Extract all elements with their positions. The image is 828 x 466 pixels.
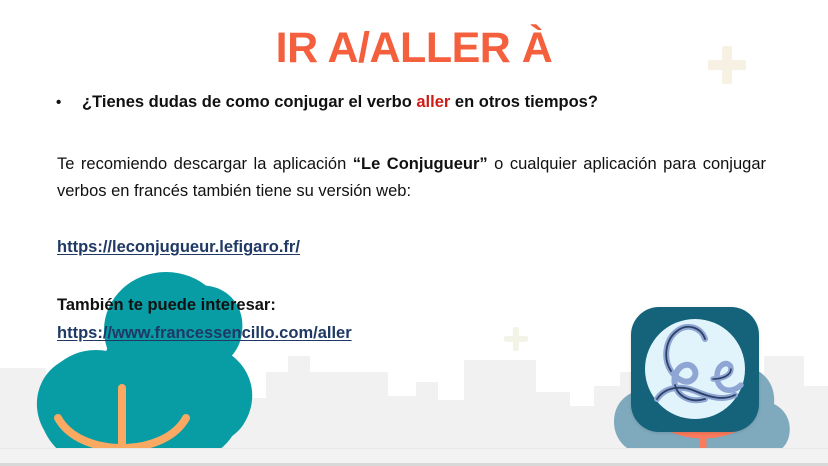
bullet-marker: • bbox=[56, 95, 82, 110]
bullet-question-text: ¿Tienes dudas de como conjugar el verbo … bbox=[82, 93, 776, 112]
app-icon-script-letters bbox=[631, 307, 759, 432]
plus-icon-middle bbox=[504, 327, 528, 351]
recommendation-paragraph: Te recomiendo descargar la aplicación “L… bbox=[57, 151, 766, 204]
paragraph-part-1: Te recomiendo descargar la aplicación bbox=[57, 155, 353, 173]
link-francessencillo[interactable]: https://www.francessencillo.com/aller bbox=[57, 324, 352, 343]
link-leconjugueur[interactable]: https://leconjugueur.lefigaro.fr/ bbox=[57, 238, 300, 257]
slide-canvas: IR A/ALLER À • ¿Tienes dudas de como con… bbox=[0, 0, 828, 466]
bullet-highlight-verb: aller bbox=[416, 93, 450, 111]
app-name-quoted: “Le Conjugueur” bbox=[353, 155, 488, 173]
bullet-text-before: ¿Tienes dudas de como conjugar el verbo bbox=[82, 93, 416, 111]
app-icon-le-conjugueur[interactable] bbox=[631, 307, 759, 432]
page-title: IR A/ALLER À bbox=[0, 26, 828, 71]
ground-strip bbox=[0, 448, 828, 466]
bullet-text-after: en otros tiempos? bbox=[450, 93, 598, 111]
bullet-question-row: • ¿Tienes dudas de como conjugar el verb… bbox=[56, 93, 776, 112]
also-interest-label: También te puede interesar: bbox=[57, 296, 276, 315]
